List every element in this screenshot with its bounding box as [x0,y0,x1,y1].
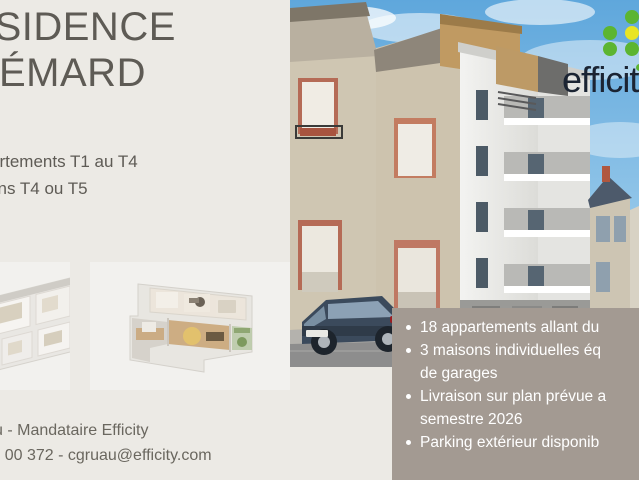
page-title: RÉSIDENCE NOÉMARD [0,4,298,96]
contact-agent-line: C. Gruau - Mandataire Efficity [0,418,298,443]
feature-text: 18 appartements allant du [420,319,599,336]
bullet-icon [406,325,411,330]
slide-root: RÉSIDENCE NOÉMARD 18 appartements T1 au … [0,0,639,480]
bullet-icon [406,394,411,399]
floor-plan-image-left [0,262,70,390]
feature-text: 3 maisons individuelles éq [420,342,601,359]
title-line-2: NOÉMARD [0,50,298,96]
floor-plan-image-right [90,262,290,390]
contact-info: C. Gruau - Mandataire Efficity 06 00 00 … [0,418,298,468]
feature-text-continued: de garages [420,365,498,382]
list-item: 3 maisons individuelles éq [406,339,639,362]
contact-email-line: 06 00 00 00 372 - cgruau@efficity.com [0,443,298,468]
subtitle-line-2: 3 maisons T4 ou T5 [0,175,298,202]
list-item: Livraison sur plan prévue a [406,385,639,408]
subtitle: 18 appartements T1 au T4 3 maisons T4 ou… [0,148,298,202]
title-line-1: RÉSIDENCE [0,4,298,50]
feature-text-continued: semestre 2026 [420,411,523,428]
bullet-icon [406,348,411,353]
floor-plan-gallery [0,262,290,390]
list-item-continuation: semestre 2026 [406,408,639,431]
feature-text: Parking extérieur disponib [420,434,599,451]
features-panel: 18 appartements allant du 3 maisons indi… [392,308,639,480]
list-item: 18 appartements allant du [406,316,639,339]
subtitle-line-1: 18 appartements T1 au T4 [0,148,298,175]
list-item: Parking extérieur disponib [406,431,639,454]
list-item-continuation: de garages [406,362,639,385]
features-list: 18 appartements allant du 3 maisons indi… [392,308,639,454]
feature-text: Livraison sur plan prévue a [420,388,606,405]
bullet-icon [406,440,411,445]
